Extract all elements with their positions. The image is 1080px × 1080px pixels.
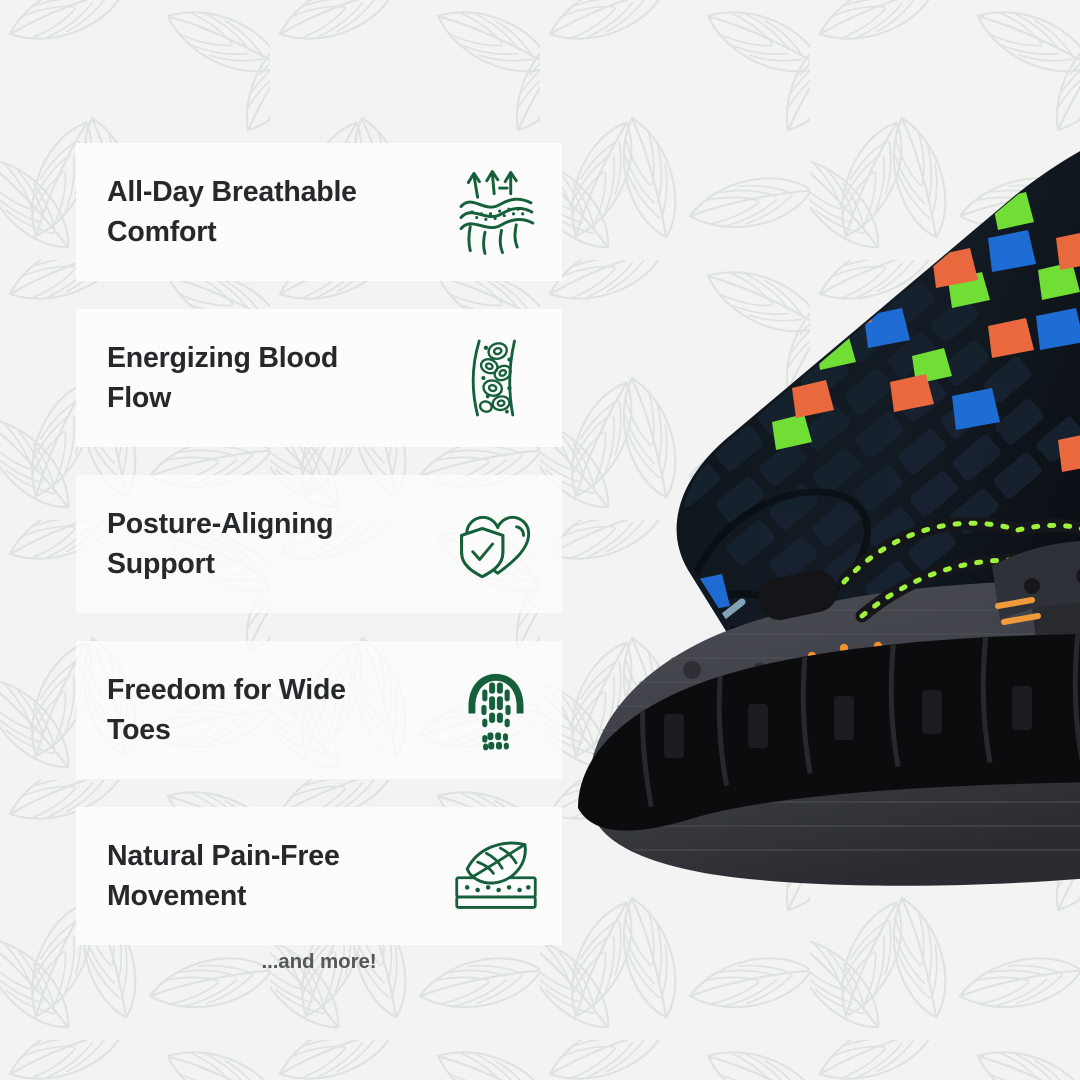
blood-vessel-icon: [448, 330, 544, 426]
feature-card-breathable-comfort[interactable]: All-Day Breathable Comfort: [76, 143, 562, 281]
feature-title: Energizing Blood Flow: [107, 338, 407, 419]
feature-title: Freedom for Wide Toes: [107, 670, 407, 751]
feature-card-posture-support[interactable]: Posture-Aligning Support: [76, 475, 562, 613]
feature-card-pain-free-movement[interactable]: Natural Pain-Free Movement: [76, 807, 562, 945]
boot-footprint-icon: [448, 662, 544, 758]
feature-title: Natural Pain-Free Movement: [107, 836, 407, 917]
feature-card-blood-flow[interactable]: Energizing Blood Flow: [76, 309, 562, 447]
promo-graphic: All-Day Breathable Comfort: [0, 0, 1080, 1080]
and-more-label: ...and more!: [76, 950, 562, 974]
breathable-fabric-icon: [448, 164, 544, 260]
heart-shield-check-icon: [448, 496, 544, 592]
feature-title: Posture-Aligning Support: [107, 504, 407, 585]
feature-card-list: All-Day Breathable Comfort: [76, 143, 562, 973]
leaf-on-insole-icon: [448, 828, 544, 924]
shoe-upper-view: [578, 523, 1080, 886]
feature-card-wide-toes[interactable]: Freedom for Wide Toes: [76, 641, 562, 779]
feature-title: All-Day Breathable Comfort: [107, 172, 407, 253]
